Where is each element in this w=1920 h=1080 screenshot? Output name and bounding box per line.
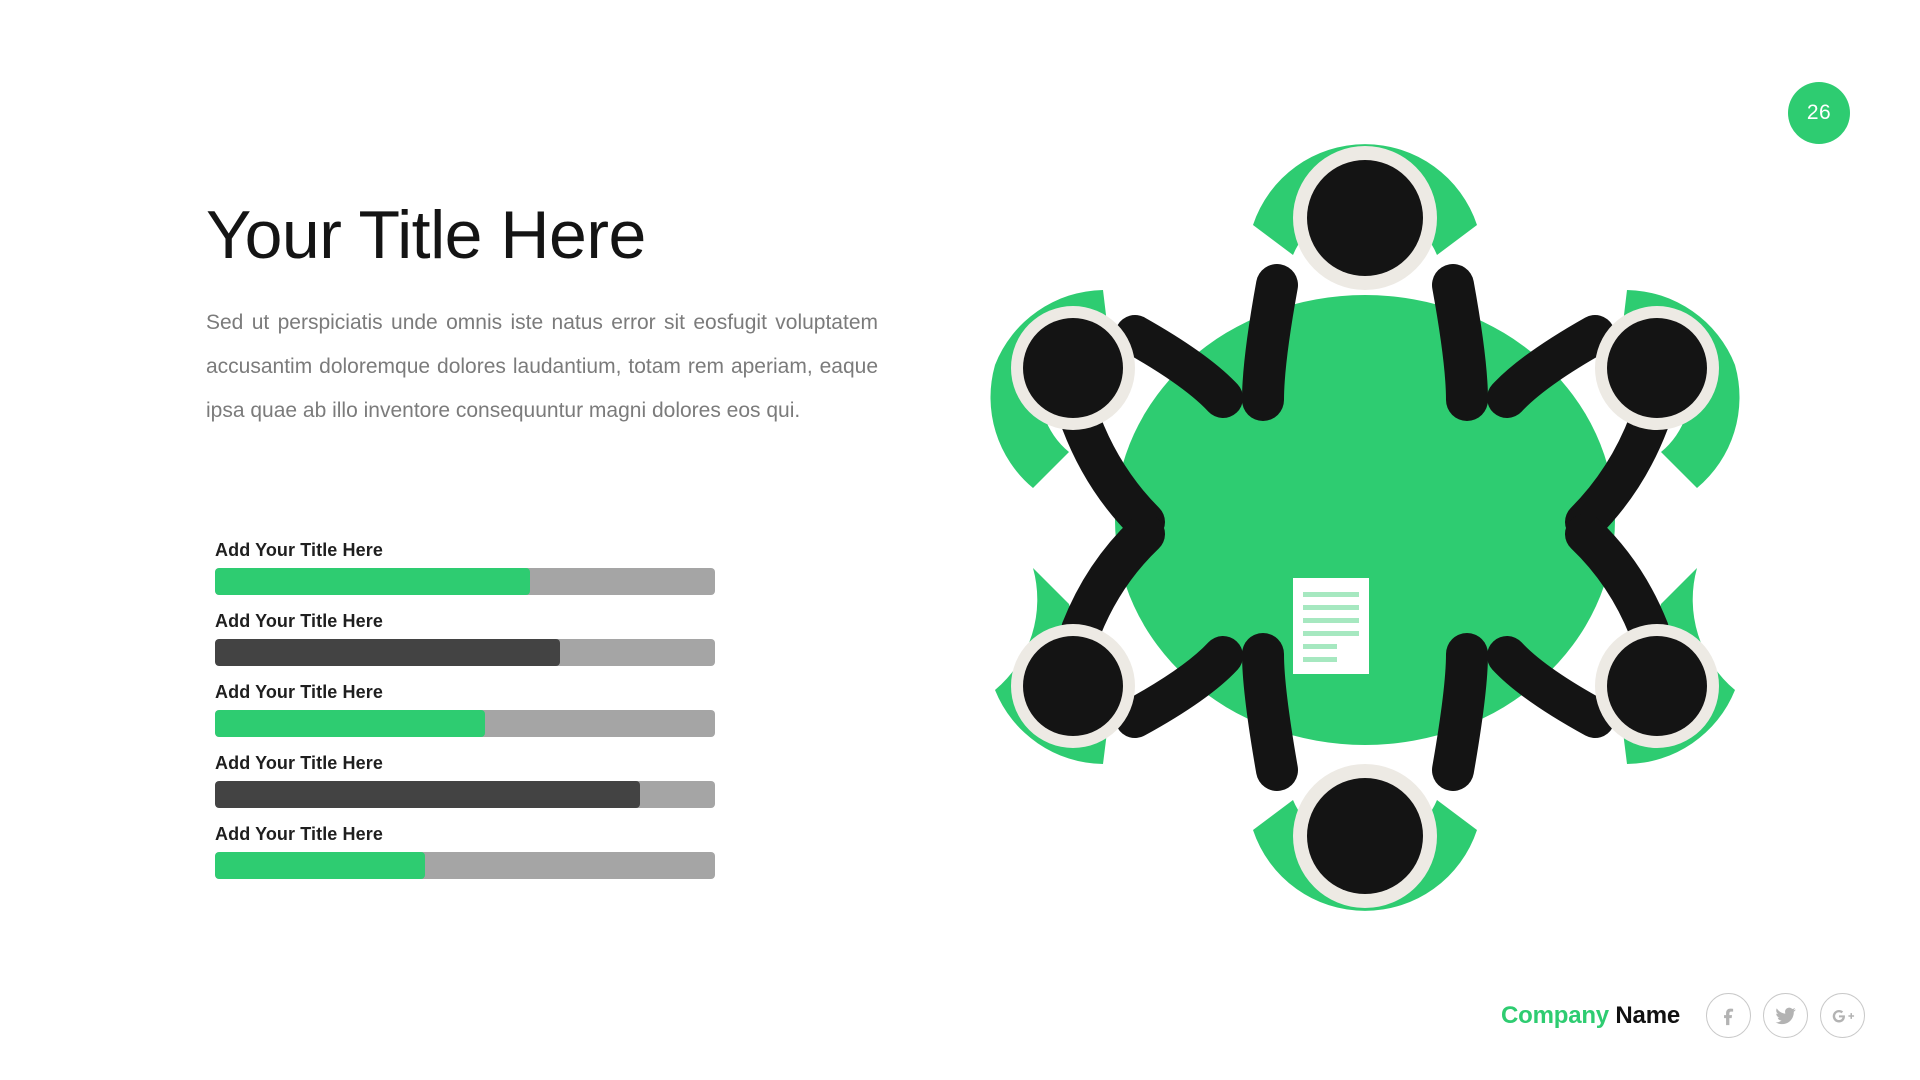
slide-canvas: 26 Your Title Here Sed ut perspiciatis u… bbox=[0, 0, 1920, 1080]
footer: Company Name bbox=[1501, 993, 1865, 1038]
progress-bar-fill bbox=[215, 852, 425, 879]
twitter-icon[interactable] bbox=[1763, 993, 1808, 1038]
progress-bar-list: Add Your Title Here Add Your Title Here … bbox=[215, 540, 715, 879]
progress-bar-track[interactable] bbox=[215, 568, 715, 595]
progress-bar-fill bbox=[215, 568, 530, 595]
progress-bar-item: Add Your Title Here bbox=[215, 611, 715, 666]
google-plus-icon[interactable] bbox=[1820, 993, 1865, 1038]
progress-bar-item: Add Your Title Here bbox=[215, 824, 715, 879]
left-content-column: Your Title Here Sed ut perspiciatis unde… bbox=[206, 200, 886, 433]
progress-bar-label: Add Your Title Here bbox=[215, 753, 715, 774]
progress-bar-item: Add Your Title Here bbox=[215, 753, 715, 808]
company-name-first: Company bbox=[1501, 1002, 1609, 1029]
progress-bar-track[interactable] bbox=[215, 852, 715, 879]
body-paragraph: Sed ut perspiciatis unde omnis iste natu… bbox=[206, 301, 878, 433]
progress-bar-label: Add Your Title Here bbox=[215, 540, 715, 561]
progress-bar-track[interactable] bbox=[215, 639, 715, 666]
progress-bar-fill bbox=[215, 781, 640, 808]
team-meeting-illustration bbox=[985, 130, 1745, 960]
company-name-second: Name bbox=[1615, 1002, 1680, 1029]
company-name: Company Name bbox=[1501, 1002, 1680, 1030]
document-icon bbox=[1293, 578, 1369, 674]
progress-bar-fill bbox=[215, 710, 485, 737]
progress-bar-track[interactable] bbox=[215, 781, 715, 808]
page-title: Your Title Here bbox=[206, 200, 886, 271]
progress-bar-item: Add Your Title Here bbox=[215, 540, 715, 595]
progress-bar-label: Add Your Title Here bbox=[215, 682, 715, 703]
progress-bar-fill bbox=[215, 639, 560, 666]
progress-bar-label: Add Your Title Here bbox=[215, 824, 715, 845]
progress-bar-track[interactable] bbox=[215, 710, 715, 737]
page-number-badge: 26 bbox=[1788, 82, 1850, 144]
social-links bbox=[1706, 993, 1865, 1038]
progress-bar-item: Add Your Title Here bbox=[215, 682, 715, 737]
facebook-icon[interactable] bbox=[1706, 993, 1751, 1038]
progress-bar-label: Add Your Title Here bbox=[215, 611, 715, 632]
